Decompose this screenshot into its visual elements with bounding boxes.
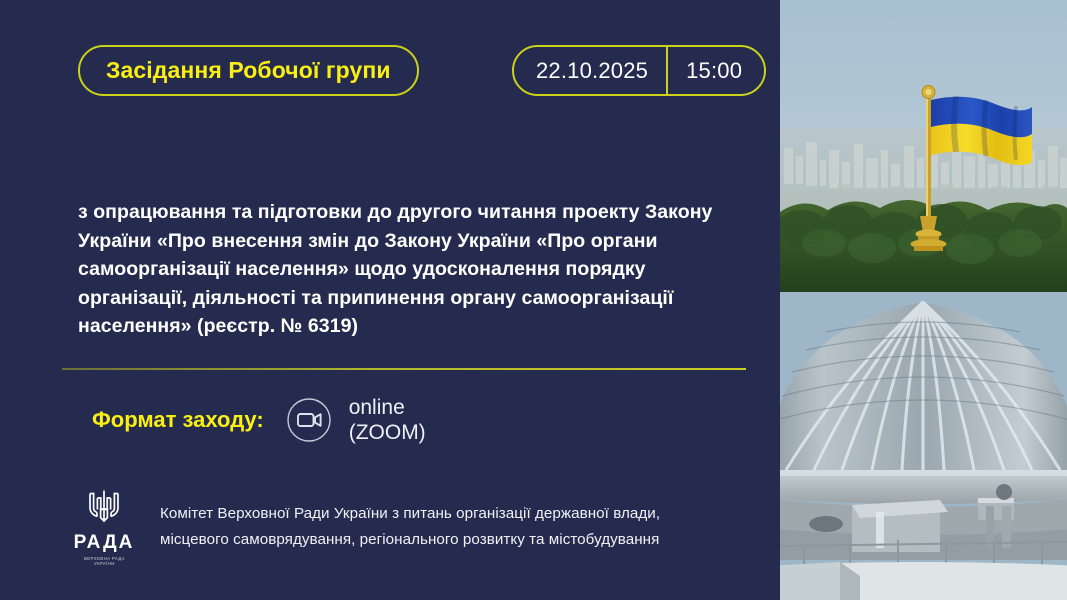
parliament-dome-photo: [780, 0, 1067, 600]
event-time: 15:00: [668, 47, 764, 94]
content-panel: Засідання Робочої групи 22.10.2025 15:00…: [0, 0, 780, 600]
trident-icon: [82, 489, 126, 528]
video-camera-icon: [286, 397, 332, 443]
logo-wordmark: РАДА: [74, 532, 135, 554]
section-divider: [62, 368, 746, 370]
agenda-description: з опрацювання та підготовки до другого ч…: [78, 198, 718, 341]
logo-caption: ВЕРХОВНА РАДА УКРАЇНИ: [84, 556, 125, 567]
committee-name: Комітет Верховної Ради України з питань …: [160, 501, 660, 553]
header-badges: Засідання Робочої групи 22.10.2025 15:00: [0, 45, 780, 98]
title-badge-label: Засідання Робочої групи: [106, 57, 391, 84]
event-date: 22.10.2025: [514, 47, 666, 94]
announcement-slide: Засідання Робочої групи 22.10.2025 15:00…: [0, 0, 1067, 600]
format-row: Формат заходу: online (ZOOM): [92, 392, 426, 448]
logo-caption-line2: УКРАЇНИ: [94, 561, 115, 566]
format-value-line2: (ZOOM): [349, 420, 426, 445]
format-label: Формат заходу:: [92, 407, 264, 433]
format-value: online (ZOOM): [349, 395, 426, 445]
verkhovna-rada-logo: РАДА ВЕРХОВНА РАДА УКРАЇНИ: [70, 487, 138, 567]
format-value-line1: online: [349, 395, 426, 420]
committee-name-line1: Комітет Верховної Ради України з питань …: [160, 501, 660, 527]
logo-caption-line1: ВЕРХОВНА РАДА: [84, 556, 125, 561]
date-time-badge: 22.10.2025 15:00: [512, 45, 766, 96]
title-badge: Засідання Робочої групи: [78, 45, 419, 96]
committee-name-line2: місцевого самоврядування, регіонального …: [160, 527, 660, 553]
footer: РАДА ВЕРХОВНА РАДА УКРАЇНИ Комітет Верхо…: [70, 487, 770, 567]
